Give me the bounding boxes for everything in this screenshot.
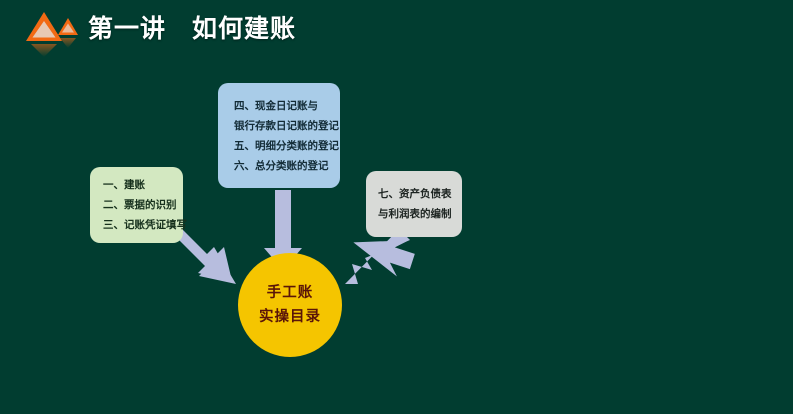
double-triangle-logo-icon: [24, 8, 84, 60]
topics-box-left[interactable]: 一、建账 二、票据的识别 三、记账凭证填写: [90, 167, 183, 243]
slide-header: 第一讲 如何建账: [0, 0, 793, 60]
topics-box-left-line: 三、记账凭证填写: [103, 215, 183, 235]
slide-canvas: 第一讲 如何建账 四、现金日记账与 银行存款日记账的登记 五、明细分类账的登记 …: [0, 0, 793, 414]
topics-box-right[interactable]: 七、资产负债表 与利润表的编制: [366, 171, 462, 237]
topics-box-left-line: 一、建账: [103, 175, 183, 195]
topics-box-middle[interactable]: 四、现金日记账与 银行存款日记账的登记 五、明细分类账的登记 六、总分类账的登记: [218, 83, 340, 188]
topics-box-middle-line: 银行存款日记账的登记: [234, 116, 340, 136]
topics-box-left-line: 二、票据的识别: [103, 195, 183, 215]
center-circle-line: 实操目录: [259, 305, 321, 329]
page-title: 第一讲 如何建账: [88, 9, 296, 45]
center-circle[interactable]: 手工账 实操目录: [238, 253, 342, 357]
topics-box-right-line: 与利润表的编制: [378, 204, 462, 224]
topics-box-right-line: 七、资产负债表: [378, 184, 462, 204]
center-circle-line: 手工账: [267, 281, 314, 305]
topics-box-middle-line: 六、总分类账的登记: [234, 156, 340, 176]
topics-box-middle-line: 四、现金日记账与: [234, 96, 340, 116]
topics-box-middle-line: 五、明细分类账的登记: [234, 136, 340, 156]
